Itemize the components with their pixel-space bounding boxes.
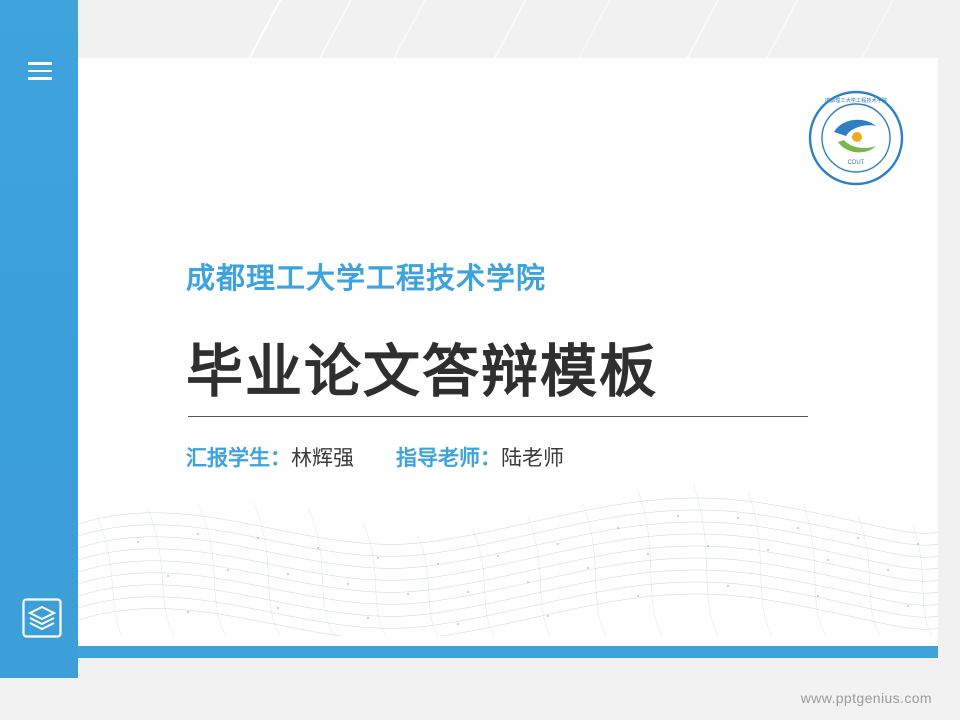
left-sidebar: [0, 0, 78, 678]
slide-title: 毕业论文答辩模板: [186, 326, 658, 408]
advisor-name: 陆老师: [501, 447, 564, 470]
layers-icon[interactable]: [22, 598, 62, 638]
badge-text: 成都理工大学工程技术学院: [825, 96, 888, 104]
advisor-label: 指导老师：: [396, 447, 501, 470]
slide-page: CDUT 成都理工大学工程技术学院 成都理工大学工程技术学院 毕业论文答辩模板 …: [0, 0, 960, 720]
hamburger-menu-icon[interactable]: [28, 62, 52, 80]
slide-bottom-bar: [78, 646, 938, 658]
sidebar-gradient: [0, 0, 78, 678]
slide-subtitle: 成都理工大学工程技术学院: [186, 255, 546, 297]
title-divider: [188, 416, 808, 417]
badge-sub-text: CDUT: [848, 160, 865, 166]
mesh-wave-graphic: [78, 446, 938, 636]
page-footer: www.pptgenius.com: [0, 678, 960, 720]
presenter-name: 林辉强: [291, 447, 354, 470]
slide-meta: 汇报学生：林辉强指导老师：陆老师: [186, 442, 564, 472]
presenter-label: 汇报学生：: [186, 447, 291, 470]
slide-canvas: CDUT 成都理工大学工程技术学院 成都理工大学工程技术学院 毕业论文答辩模板 …: [78, 58, 938, 658]
university-badge: CDUT 成都理工大学工程技术学院: [808, 90, 904, 186]
footer-url: www.pptgenius.com: [801, 690, 932, 706]
